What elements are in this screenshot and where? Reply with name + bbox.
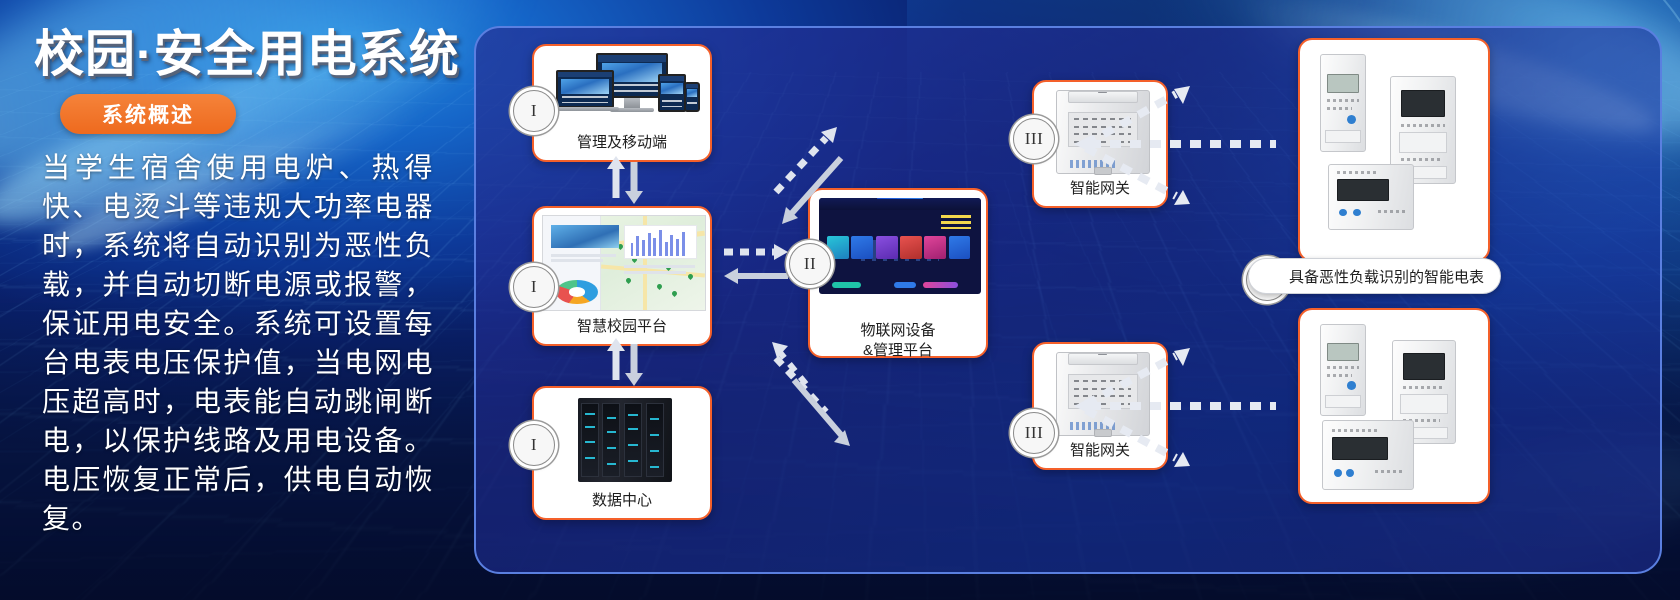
numeral-badge-ii: II xyxy=(789,243,831,285)
diagram-connectors xyxy=(476,28,1664,576)
numeral-badge-iii: III xyxy=(1013,412,1055,454)
connector-iot-gateway-bottom xyxy=(772,342,850,446)
hero-text-column: 校园·安全用电系统 系统概述 当学生宿舍使用电炉、热得快、电烫斗等违规大功率电器… xyxy=(0,0,470,600)
connector-admin-campus xyxy=(607,156,643,204)
connector-gateway-meters-top xyxy=(1074,86,1276,205)
callout-smart-meter[interactable]: 具备恶性负载识别的智能电表 xyxy=(1248,258,1501,294)
connector-campus-datacenter xyxy=(607,338,643,386)
overview-paragraph: 当学生宿舍使用电炉、热得快、电烫斗等违规大功率电器时，系统将自动识别为恶性负载，… xyxy=(42,148,434,538)
connector-gateway-meters-bottom xyxy=(1074,348,1276,467)
connector-campus-iot xyxy=(724,244,788,284)
connector-iot-gateway-top xyxy=(776,127,841,224)
page-title: 校园·安全用电系统 xyxy=(34,14,460,86)
numeral-badge-i: I xyxy=(513,424,555,466)
numeral-badge-iii: III xyxy=(1013,118,1055,160)
callout-label: 具备恶性负载识别的智能电表 xyxy=(1289,266,1484,287)
numeral-badge-i: I xyxy=(513,90,555,132)
section-badge: 系统概述 xyxy=(60,94,236,134)
numeral-badge-i: I xyxy=(513,266,555,308)
architecture-diagram-panel: 管理及移动端 I xyxy=(474,26,1662,574)
